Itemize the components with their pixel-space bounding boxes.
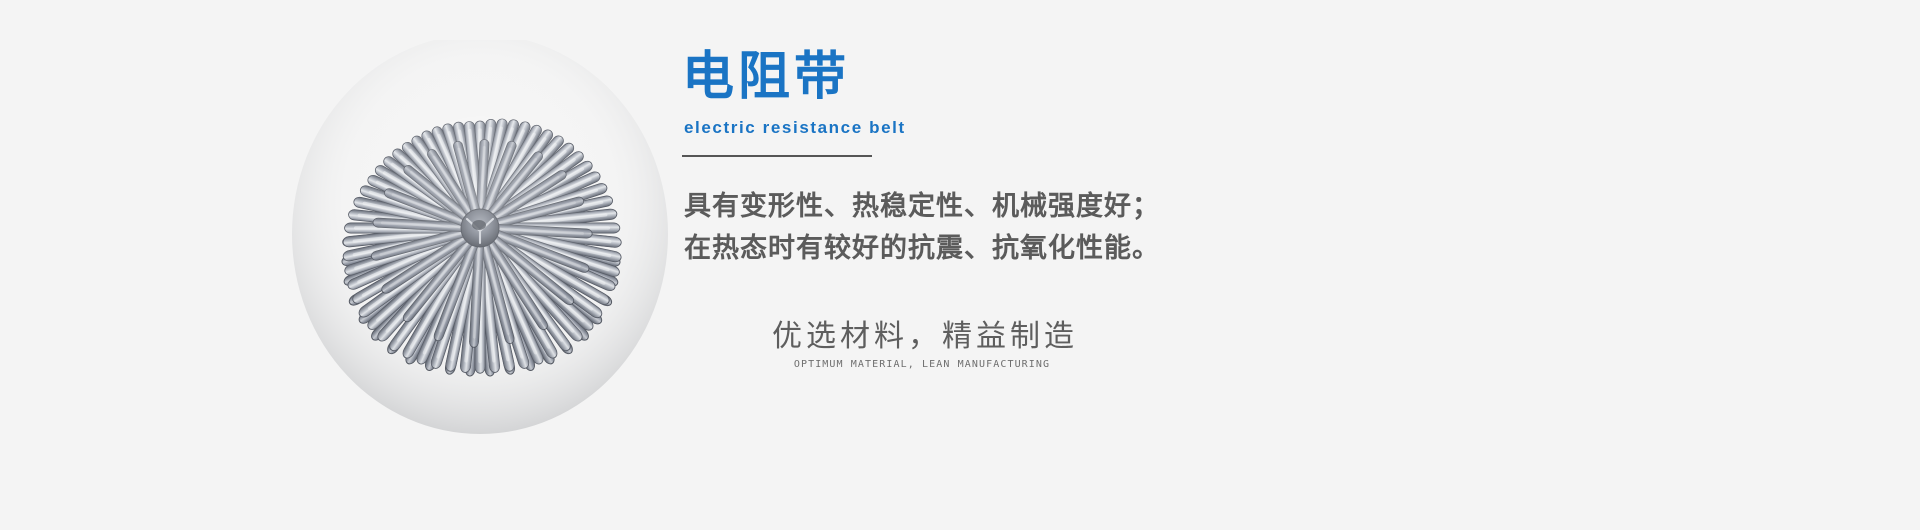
slogan-en: OPTIMUM MATERIAL, LEAN MANUFACTURING [772, 358, 1072, 372]
product-banner: 电阻带 electric resistance belt 具有变形性、热稳定性、… [0, 0, 1920, 530]
slogan-block: 优选材料，精益制造 OPTIMUM MATERIAL, LEAN MANUFAC… [772, 318, 1072, 372]
description-line-1: 具有变形性、热稳定性、机械强度好； [684, 185, 1324, 227]
page-subtitle-en: electric resistance belt [684, 118, 1302, 138]
slogan-cn: 优选材料，精益制造 [772, 318, 1072, 356]
description-line-2: 在热态时有较好的抗震、抗氧化性能。 [684, 227, 1324, 269]
resistance-belt-bundle-icon [290, 40, 670, 440]
banner-content: 电阻带 electric resistance belt 具有变形性、热稳定性、… [682, 0, 1682, 530]
description-block: 具有变形性、热稳定性、机械强度好； 在热态时有较好的抗震、抗氧化性能。 [684, 185, 1324, 269]
product-image [290, 40, 670, 440]
page-title: 电阻带 [682, 48, 1302, 106]
title-block: 电阻带 electric resistance belt [682, 48, 1302, 157]
title-divider [682, 155, 872, 157]
